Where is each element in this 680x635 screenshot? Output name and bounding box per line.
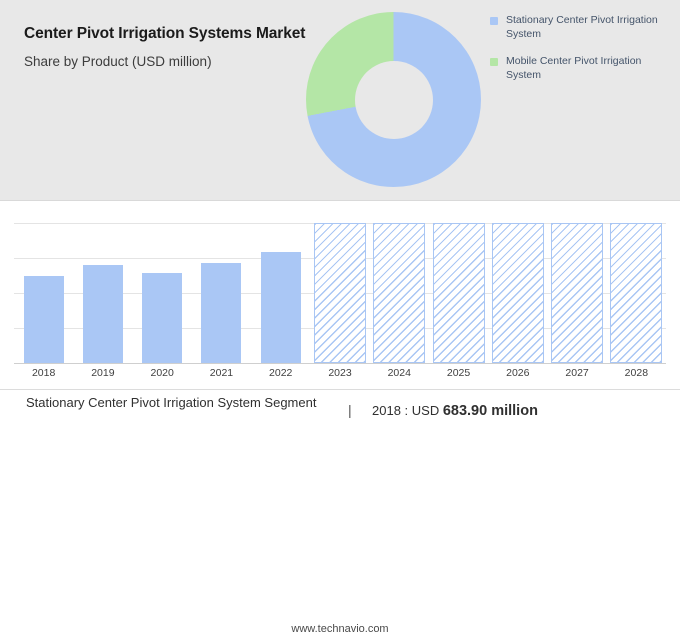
legend-swatch-mobile	[490, 58, 498, 66]
page-title: Center Pivot Irrigation Systems Market	[24, 24, 314, 45]
source-url[interactable]: www.technavio.com	[0, 623, 680, 635]
x-label-2024: 2024	[370, 367, 429, 379]
x-label-2023: 2023	[310, 367, 369, 379]
legend-item-mobile[interactable]: Mobile Center Pivot Irrigation System	[490, 55, 670, 82]
x-label-2019: 2019	[73, 367, 132, 379]
bar-2021	[201, 263, 241, 363]
legend-label-stationary: Stationary Center Pivot Irrigation Syste…	[506, 14, 670, 41]
infographic-root: Center Pivot Irrigation Systems Market S…	[0, 0, 680, 440]
footer-value-amount: 683.90 million	[443, 403, 538, 419]
donut-chart	[306, 12, 481, 187]
bar-2019	[83, 265, 123, 363]
donut-hole	[355, 61, 433, 139]
legend-item-stationary[interactable]: Stationary Center Pivot Irrigation Syste…	[490, 14, 670, 41]
x-label-2025: 2025	[429, 367, 488, 379]
bar-chart-plot	[14, 223, 666, 363]
x-label-2021: 2021	[192, 367, 251, 379]
bar-2024	[373, 223, 425, 363]
bar-2027	[551, 223, 603, 363]
footer-value: 2018 : USD 683.90 million	[372, 403, 538, 419]
top-panel: Center Pivot Irrigation Systems Market S…	[0, 0, 680, 200]
x-label-2026: 2026	[488, 367, 547, 379]
bar-2022	[261, 252, 301, 363]
footer-segment-label: Stationary Center Pivot Irrigation Syste…	[26, 394, 336, 413]
x-label-2027: 2027	[547, 367, 606, 379]
x-label-2022: 2022	[251, 367, 310, 379]
bar-2023	[314, 223, 366, 363]
x-label-2028: 2028	[607, 367, 666, 379]
x-label-2020: 2020	[133, 367, 192, 379]
bottom-panel: 2018201920202021202220232024202520262027…	[0, 200, 680, 440]
footer-pipe: |	[348, 402, 352, 418]
bar-2018	[24, 276, 64, 363]
x-label-2018: 2018	[14, 367, 73, 379]
title-block: Center Pivot Irrigation Systems Market S…	[24, 24, 314, 71]
legend-label-mobile: Mobile Center Pivot Irrigation System	[506, 55, 670, 82]
bar-2026	[492, 223, 544, 363]
bar-2028	[610, 223, 662, 363]
x-axis-line	[14, 363, 666, 364]
bar-2020	[142, 273, 182, 363]
footer-value-prefix: 2018 : USD	[372, 403, 439, 418]
page-subtitle: Share by Product (USD million)	[24, 53, 314, 71]
footer: Stationary Center Pivot Irrigation Syste…	[0, 390, 680, 441]
bar-2025	[433, 223, 485, 363]
x-axis-labels: 2018201920202021202220232024202520262027…	[14, 367, 666, 387]
bar-series	[14, 223, 666, 363]
legend-swatch-stationary	[490, 17, 498, 25]
chart-legend: Stationary Center Pivot Irrigation Syste…	[490, 14, 670, 97]
